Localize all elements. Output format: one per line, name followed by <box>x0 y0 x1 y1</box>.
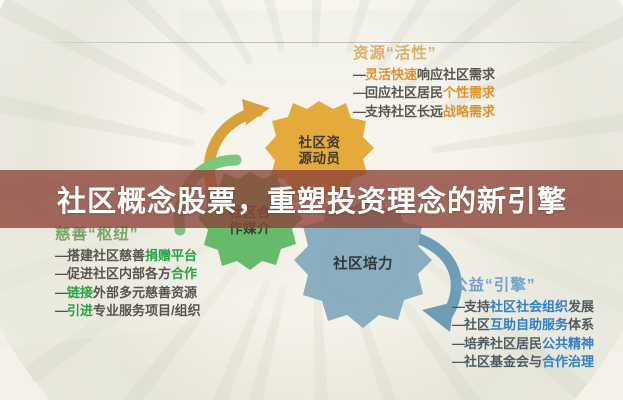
list-highlight: 合作治理 <box>542 354 594 369</box>
list-highlight: 个性需求 <box>443 85 495 100</box>
list-pre: 支持社区长远 <box>365 104 443 119</box>
list-post: 专业服务项目/组织 <box>93 303 201 318</box>
list-dash: — <box>55 248 67 263</box>
text-block-charity: 慈善“枢纽” —搭建社区慈善捐赠平台 —促进社区内部各方合作 —链接外部多元慈善… <box>55 222 201 321</box>
list-highlight: 公共精神 <box>542 336 594 351</box>
list-dash: — <box>452 317 464 332</box>
list-pre: 搭建社区慈善 <box>67 248 145 263</box>
list-highlight: 灵活快速 <box>365 67 417 82</box>
list-dash: — <box>452 299 464 314</box>
heading-resource: 资源“活性” <box>353 41 495 63</box>
heading-public-welfare: 公益“引擎” <box>452 273 594 295</box>
list-item: —社区互助自助服务体系 <box>452 316 594 334</box>
text-block-resource: 资源“活性” —灵活快速响应社区需求 —回应社区居民个性需求 —支持社区长远战略… <box>353 41 495 121</box>
list-pre: 培养社区居民 <box>464 336 542 351</box>
list-item: —链接外部多元慈善资源 <box>55 284 201 302</box>
list-dash: — <box>353 104 365 119</box>
list-dash: — <box>55 303 67 318</box>
list-post: 响应社区需求 <box>417 67 495 82</box>
list-dash: — <box>55 266 67 281</box>
title-banner: 社区概念股票，重塑投资理念的新引擎 <box>0 170 623 228</box>
list-highlight: 战略需求 <box>443 104 495 119</box>
list-post: 发展 <box>568 299 594 314</box>
list-dash: — <box>353 67 365 82</box>
list-item: —促进社区内部各方合作 <box>55 265 201 283</box>
list-post: 体系 <box>568 317 594 332</box>
infographic-canvas: 社区资 源动员 社区合 作媒介 社区培力 资源“活性” —灵活快速响应社区需求 … <box>0 0 623 400</box>
list-pre: 支持 <box>464 299 490 314</box>
horizontal-rule <box>31 42 604 43</box>
list-pre: 回应社区居民 <box>365 85 443 100</box>
list-pre: 促进社区内部各方 <box>67 266 171 281</box>
list-item: —搭建社区慈善捐赠平台 <box>55 247 201 265</box>
list-highlight: 捐赠平台 <box>145 248 197 263</box>
list-highlight: 互助自助服务 <box>490 317 568 332</box>
list-dash: — <box>452 354 464 369</box>
list-highlight: 引进 <box>67 303 93 318</box>
list-item: —社区基金会与合作治理 <box>452 353 594 371</box>
list-pre: 社区基金会与 <box>464 354 542 369</box>
list-item: —引进专业服务项目/组织 <box>55 302 201 320</box>
list-item: —培养社区居民公共精神 <box>452 335 594 353</box>
list-item: —灵活快速响应社区需求 <box>353 66 495 84</box>
list-dash: — <box>452 336 464 351</box>
list-post: 外部多元慈善资源 <box>93 285 197 300</box>
list-highlight: 社区社会组织 <box>490 299 568 314</box>
list-pre: 社区 <box>464 317 490 332</box>
page-title: 社区概念股票，重塑投资理念的新引擎 <box>57 178 567 220</box>
list-dash: — <box>55 285 67 300</box>
text-block-public-welfare: 公益“引擎” —支持社区社会组织发展 —社区互助自助服务体系 —培养社区居民公共… <box>452 273 594 372</box>
list-highlight: 链接 <box>67 285 93 300</box>
list-item: —回应社区居民个性需求 <box>353 84 495 102</box>
list-item: —支持社区社会组织发展 <box>452 298 594 316</box>
list-item: —支持社区长远战略需求 <box>353 103 495 121</box>
list-highlight: 合作 <box>171 266 197 281</box>
list-dash: — <box>353 85 365 100</box>
